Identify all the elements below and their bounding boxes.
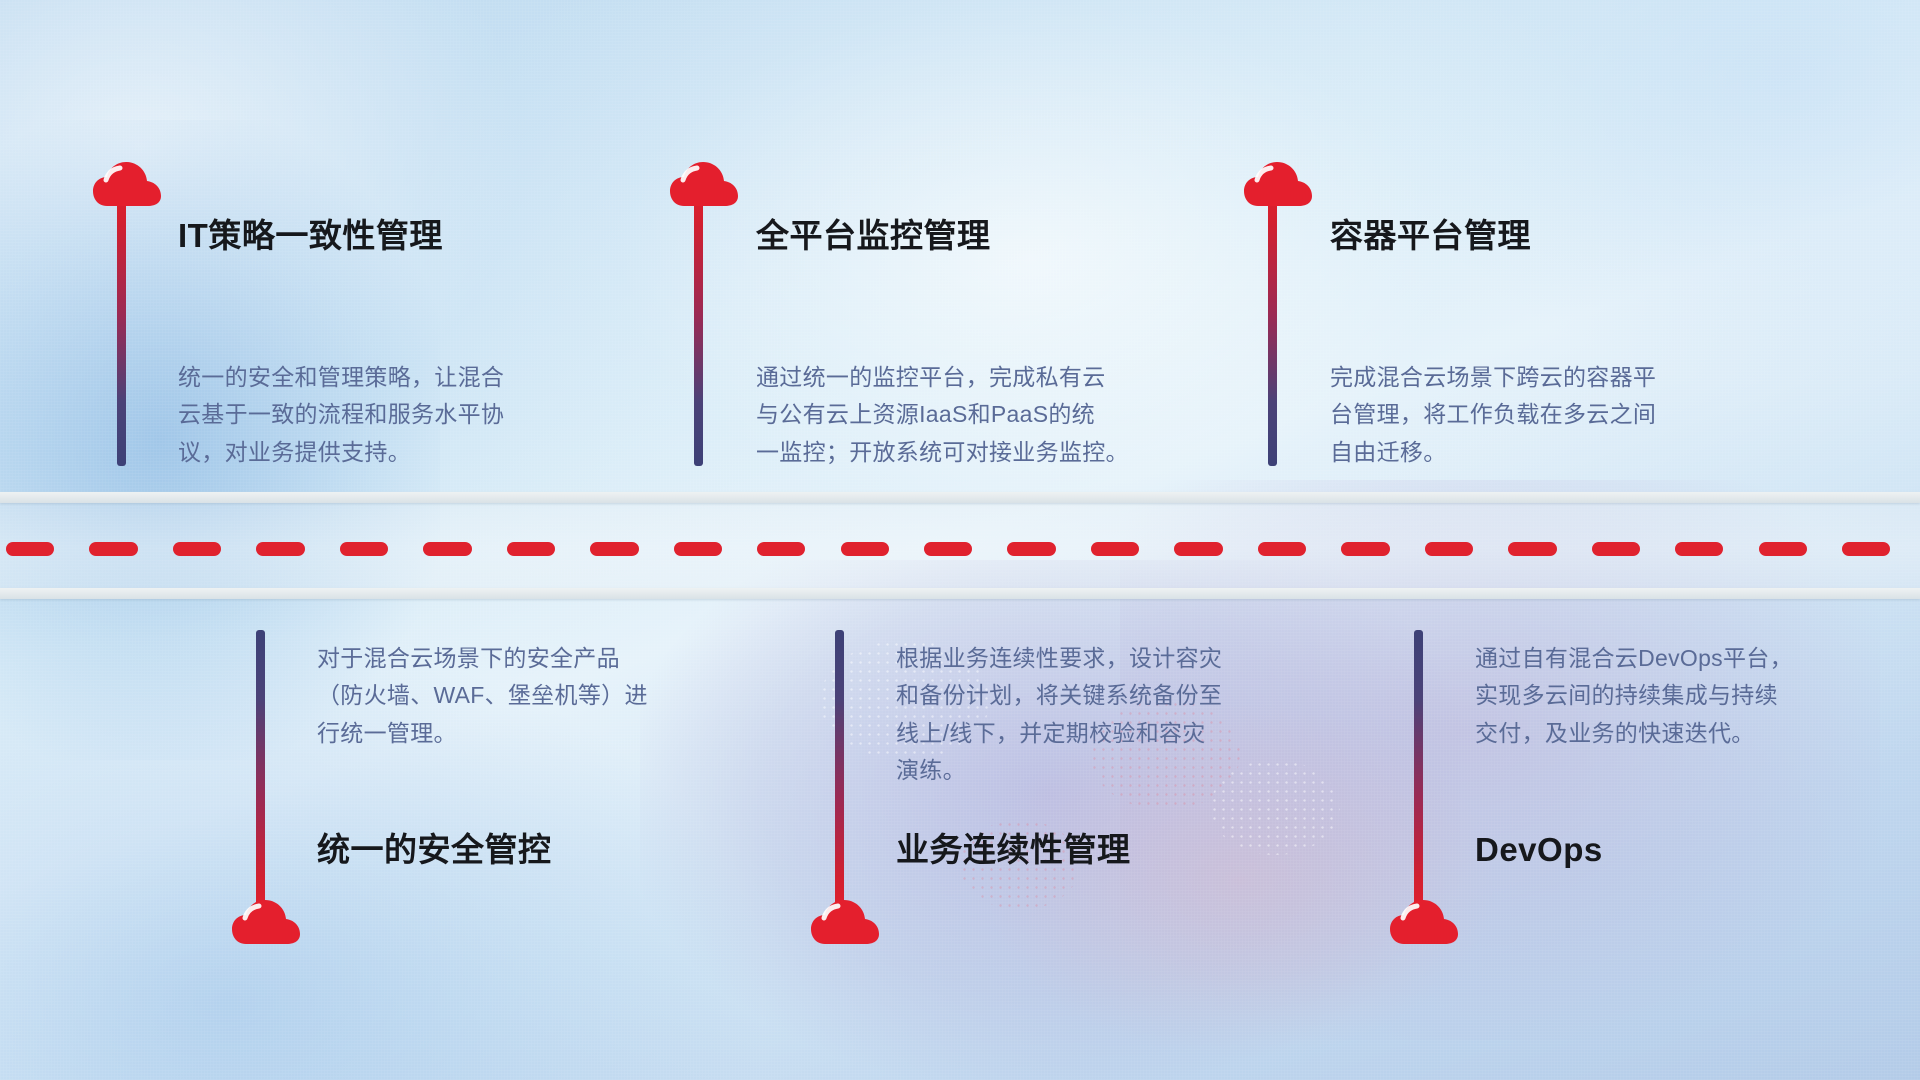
road-dash xyxy=(6,542,54,556)
road-edge-top xyxy=(0,492,1920,503)
body-line: 统一的安全和管理策略，让混合 xyxy=(178,359,548,396)
road-dash xyxy=(89,542,137,556)
road-dash xyxy=(1592,542,1640,556)
road-dash xyxy=(1425,542,1473,556)
road-dash xyxy=(1007,542,1055,556)
road-dash xyxy=(590,542,638,556)
top-item-1-stem xyxy=(117,176,126,466)
road-dash xyxy=(674,542,722,556)
body-line: 通过自有混合云DevOps平台， xyxy=(1475,640,1845,677)
dashed-center-line xyxy=(0,542,1920,556)
road-dash xyxy=(1341,542,1389,556)
road-dash xyxy=(1258,542,1306,556)
top-item-3-title: 容器平台管理 xyxy=(1330,218,1531,254)
cloud-icon xyxy=(811,898,879,948)
body-line: 对于混合云场景下的安全产品 xyxy=(317,640,687,677)
body-line: 一监控；开放系统可对接业务监控。 xyxy=(756,434,1151,471)
body-line: 通过统一的监控平台，完成私有云 xyxy=(756,359,1151,396)
road-dash xyxy=(1759,542,1807,556)
road-dash xyxy=(1675,542,1723,556)
body-line: 完成混合云场景下跨云的容器平 xyxy=(1330,359,1700,396)
bottom-item-3-title: DevOps xyxy=(1475,832,1603,868)
road-dash xyxy=(256,542,304,556)
top-item-2-body: 通过统一的监控平台，完成私有云 与公有云上资源IaaS和PaaS的统 一监控；开… xyxy=(756,359,1151,471)
top-item-2-title: 全平台监控管理 xyxy=(756,218,991,254)
body-line: 云基于一致的流程和服务水平协 xyxy=(178,396,548,433)
road-dash xyxy=(841,542,889,556)
road-dash xyxy=(1508,542,1556,556)
road-dash xyxy=(757,542,805,556)
bottom-item-1-stem xyxy=(256,630,265,920)
top-item-3-stem xyxy=(1268,176,1277,466)
bottom-item-3-body: 通过自有混合云DevOps平台， 实现多云间的持续集成与持续 交付，及业务的快速… xyxy=(1475,640,1845,752)
road-dash xyxy=(173,542,221,556)
bottom-item-2-title: 业务连续性管理 xyxy=(896,832,1131,868)
bottom-item-2-body: 根据业务连续性要求，设计容灾 和备份计划，将关键系统备份至 线上/线下，并定期校… xyxy=(896,640,1266,789)
body-line: 演练。 xyxy=(896,752,1266,789)
road-dash xyxy=(924,542,972,556)
bottom-item-3-stem xyxy=(1414,630,1423,920)
body-line: 交付，及业务的快速迭代。 xyxy=(1475,715,1845,752)
road-dash xyxy=(507,542,555,556)
infographic-canvas: IT策略一致性管理 统一的安全和管理策略，让混合 云基于一致的流程和服务水平协 … xyxy=(0,0,1920,1080)
road-dash xyxy=(1842,542,1890,556)
road-edge-bottom xyxy=(0,588,1920,599)
road-dash xyxy=(423,542,471,556)
cloud-icon xyxy=(93,160,161,210)
cloud-icon xyxy=(670,160,738,210)
bottom-item-1-title: 统一的安全管控 xyxy=(317,832,552,868)
body-line: 台管理，将工作负载在多云之间 xyxy=(1330,396,1700,433)
cloud-icon xyxy=(1390,898,1458,948)
road-dash xyxy=(1174,542,1222,556)
cloud-icon xyxy=(232,898,300,948)
body-line: 行统一管理。 xyxy=(317,715,687,752)
body-line: （防火墙、WAF、堡垒机等）进 xyxy=(317,677,687,714)
bottom-item-2-stem xyxy=(835,630,844,920)
top-item-2-stem xyxy=(694,176,703,466)
bottom-item-1-body: 对于混合云场景下的安全产品 （防火墙、WAF、堡垒机等）进 行统一管理。 xyxy=(317,640,687,752)
body-line: 议，对业务提供支持。 xyxy=(178,434,548,471)
road-dash xyxy=(340,542,388,556)
body-line: 与公有云上资源IaaS和PaaS的统 xyxy=(756,396,1151,433)
body-line: 根据业务连续性要求，设计容灾 xyxy=(896,640,1266,677)
road-dash xyxy=(1091,542,1139,556)
top-item-1-title: IT策略一致性管理 xyxy=(178,218,443,254)
top-item-1-body: 统一的安全和管理策略，让混合 云基于一致的流程和服务水平协 议，对业务提供支持。 xyxy=(178,359,548,471)
body-line: 自由迁移。 xyxy=(1330,434,1700,471)
top-item-3-body: 完成混合云场景下跨云的容器平 台管理，将工作负载在多云之间 自由迁移。 xyxy=(1330,359,1700,471)
cloud-icon xyxy=(1244,160,1312,210)
body-line: 线上/线下，并定期校验和容灾 xyxy=(896,715,1266,752)
body-line: 实现多云间的持续集成与持续 xyxy=(1475,677,1845,714)
body-line: 和备份计划，将关键系统备份至 xyxy=(896,677,1266,714)
